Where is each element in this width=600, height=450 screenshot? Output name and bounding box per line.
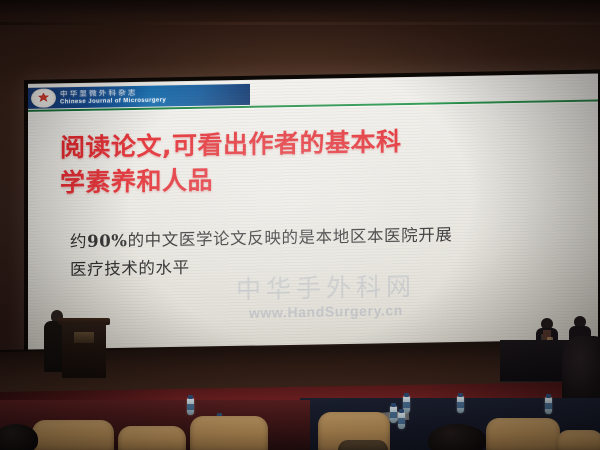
audience-chair [32,420,114,450]
body-prefix: 约 [70,232,87,251]
slide-journal-banner: 中华显微外科杂志 Chinese Journal of Microsurgery [28,84,250,109]
journal-emblem-icon [31,88,56,107]
audience-head [428,424,486,450]
slide-body: 约90%的中文医学论文反映的是本地区本医院开展 医疗技术的水平 [70,219,582,285]
slide-title: 阅读论文,可看出作者的基本科 学素养和人品 [60,122,570,200]
water-bottle [545,397,552,414]
water-bottle [187,398,194,415]
projection-screen: 中华显微外科杂志 Chinese Journal of Microsurgery… [28,73,598,360]
audience-chair [338,440,388,450]
water-bottle [398,412,405,429]
water-bottle [457,396,464,413]
wooden-podium [62,322,106,378]
wall-glow [48,10,552,80]
podium-plate [74,332,94,343]
audience-chair [486,418,560,450]
audience-chair [556,430,600,450]
watermark-url: www.HandSurgery.cn [176,300,476,321]
body-suffix: 的中文医学论文反映的是本地区本医院开展 [128,225,453,250]
body-statistic: 90% [87,231,127,251]
conference-photo: 中华显微外科杂志 Chinese Journal of Microsurgery… [0,0,600,450]
audience-chair [118,426,186,450]
water-bottle [403,396,410,413]
water-bottle [390,406,397,423]
screen-vignette [28,73,598,360]
foreground-silhouette-right [562,336,600,402]
audience-chair [190,416,268,450]
projection-screen-frame: 中华显微外科杂志 Chinese Journal of Microsurgery… [24,69,600,365]
